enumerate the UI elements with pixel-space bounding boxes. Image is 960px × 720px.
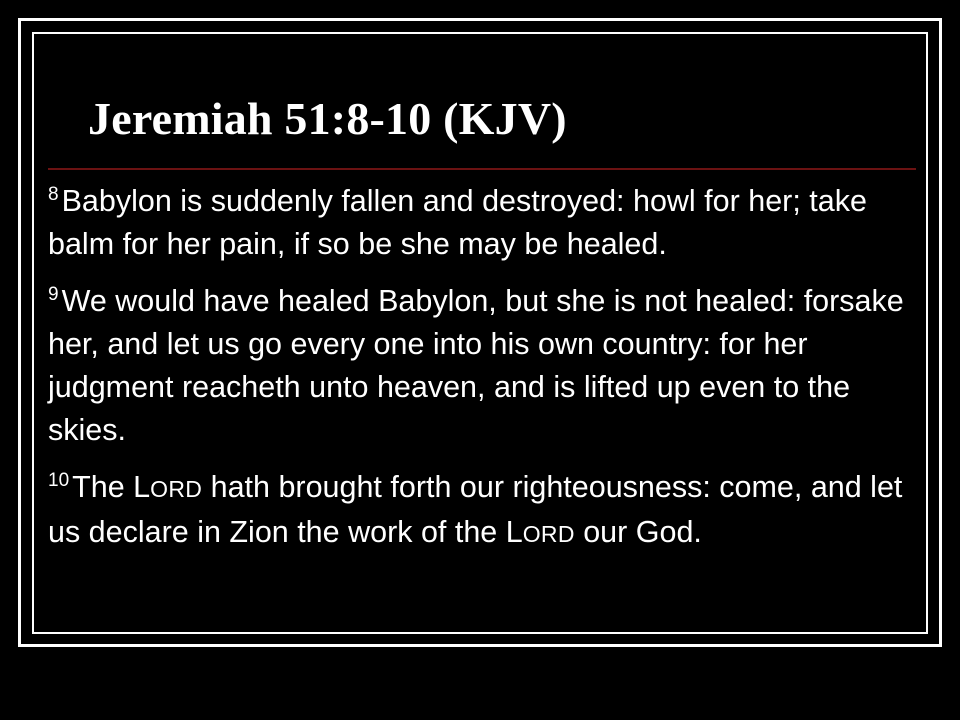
lord-smallcaps-first: ORD bbox=[150, 476, 202, 502]
verse-paragraph-10: 10The LORD hath brought forth our righte… bbox=[48, 466, 908, 556]
verse-text-10-part1: The bbox=[72, 470, 133, 504]
title-divider-rule bbox=[48, 168, 916, 170]
verse-paragraph-8: 8Babylon is suddenly fallen and destroye… bbox=[48, 180, 908, 266]
lord-capital-l-first: L bbox=[133, 470, 150, 504]
presentation-slide: Jeremiah 51:8-10 (KJV) 8Babylon is sudde… bbox=[0, 0, 960, 720]
slide-title: Jeremiah 51:8-10 (KJV) bbox=[88, 90, 916, 148]
verse-number-10: 10 bbox=[48, 470, 72, 491]
lord-capital-l-second: L bbox=[506, 515, 523, 549]
slide-content: Jeremiah 51:8-10 (KJV) 8Babylon is sudde… bbox=[48, 90, 916, 556]
verse-text-9: We would have healed Babylon, but she is… bbox=[48, 284, 904, 447]
verse-number-8: 8 bbox=[48, 184, 62, 205]
verse-paragraph-9: 9We would have healed Babylon, but she i… bbox=[48, 280, 908, 452]
scripture-body: 8Babylon is suddenly fallen and destroye… bbox=[48, 180, 916, 556]
verse-text-10-part3: our God. bbox=[575, 515, 702, 549]
lord-smallcaps-second: ORD bbox=[523, 521, 575, 547]
verse-text-8: Babylon is suddenly fallen and destroyed… bbox=[48, 184, 867, 261]
verse-number-9: 9 bbox=[48, 284, 62, 305]
